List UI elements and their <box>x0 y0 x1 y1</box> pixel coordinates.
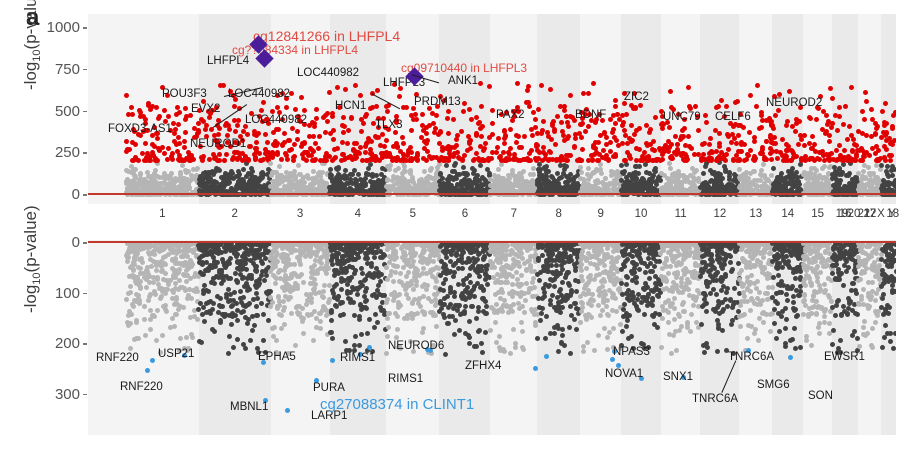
scatter-point <box>870 181 875 186</box>
scatter-point <box>176 135 181 140</box>
scatter-point <box>452 163 457 168</box>
scatter-point <box>810 146 815 151</box>
scatter-point <box>434 113 439 118</box>
scatter-point <box>152 289 157 294</box>
scatter-point <box>363 183 368 188</box>
scatter-point <box>124 139 129 144</box>
scatter-point <box>316 146 321 151</box>
scatter-point <box>177 141 182 146</box>
scatter-point <box>124 253 129 258</box>
scatter-point <box>820 166 825 171</box>
scatter-point <box>859 177 864 182</box>
scatter-point <box>635 182 640 187</box>
scatter-point <box>153 168 158 173</box>
scatter-point <box>155 136 160 141</box>
scatter-point <box>748 93 753 98</box>
scatter-point <box>729 188 734 193</box>
scatter-point <box>700 142 705 147</box>
scatter-point <box>408 186 413 191</box>
scatter-point <box>514 183 519 188</box>
scatter-point <box>602 130 607 135</box>
scatter-point <box>861 169 866 174</box>
scatter-point <box>862 117 867 122</box>
scatter-point <box>824 113 829 118</box>
scatter-point <box>168 278 173 283</box>
scatter-point <box>444 186 449 191</box>
scatter-point <box>580 147 585 152</box>
scatter-point <box>130 112 135 117</box>
scatter-point <box>201 154 206 159</box>
scatter-point <box>450 169 455 174</box>
scatter-point <box>400 135 405 140</box>
scatter-point <box>737 158 742 163</box>
scatter-point <box>651 139 656 144</box>
scatter-point <box>879 135 884 140</box>
scatter-point <box>579 170 584 175</box>
scatter-point <box>261 100 266 105</box>
scatter-point <box>311 169 316 174</box>
scatter-point <box>133 142 138 147</box>
scatter-point <box>508 127 513 132</box>
scatter-point <box>138 271 143 276</box>
scatter-point <box>809 166 814 171</box>
scatter-point <box>628 156 633 161</box>
scatter-point <box>467 107 472 112</box>
scatter-point <box>184 335 189 340</box>
scatter-point <box>162 151 167 156</box>
scatter-point <box>352 141 357 146</box>
scatter-point <box>620 123 625 128</box>
scatter-point <box>569 185 574 190</box>
significance-threshold-line-top <box>88 193 896 195</box>
scatter-point <box>134 336 139 341</box>
scatter-point <box>461 109 466 114</box>
scatter-point <box>177 158 182 163</box>
scatter-point <box>681 134 686 139</box>
scatter-point <box>175 261 180 266</box>
scatter-point <box>170 257 175 262</box>
scatter-point <box>387 167 392 172</box>
scatter-point <box>317 179 322 184</box>
scatter-point <box>445 116 450 121</box>
scatter-point <box>446 131 451 136</box>
scatter-point <box>755 83 760 88</box>
scatter-point <box>649 187 654 192</box>
scatter-point <box>154 338 159 343</box>
scatter-point <box>335 146 340 151</box>
scatter-point <box>215 158 220 163</box>
scatter-point <box>449 145 454 150</box>
scatter-point <box>324 158 329 163</box>
scatter-point <box>536 167 541 172</box>
scatter-point <box>844 173 849 178</box>
scatter-point <box>178 285 183 290</box>
scatter-point <box>182 145 187 150</box>
scatter-point <box>495 145 500 150</box>
scatter-point <box>525 156 530 161</box>
scatter-point <box>531 110 536 115</box>
scatter-point <box>864 99 869 104</box>
scatter-point <box>420 112 425 117</box>
scatter-point <box>863 90 868 95</box>
scatter-point <box>503 133 508 138</box>
scatter-point <box>769 173 774 178</box>
scatter-point <box>351 147 356 152</box>
scatter-point <box>807 157 812 162</box>
scatter-point <box>334 166 339 171</box>
scatter-point <box>754 104 759 109</box>
scatter-point <box>490 121 495 126</box>
scatter-point <box>345 141 350 146</box>
scatter-point <box>299 95 304 100</box>
scatter-point <box>478 163 483 168</box>
scatter-point <box>279 157 284 162</box>
scatter-point <box>779 171 784 176</box>
scatter-point <box>579 158 584 163</box>
scatter-point <box>548 150 553 155</box>
scatter-point <box>856 129 861 134</box>
scatter-point <box>768 146 773 151</box>
scatter-point <box>293 107 298 112</box>
scatter-point <box>181 305 186 310</box>
scatter-point <box>871 171 876 176</box>
scatter-point <box>660 157 665 162</box>
scatter-point <box>834 148 839 153</box>
scatter-point <box>531 166 536 171</box>
scatter-point <box>413 112 418 117</box>
scatter-point <box>173 127 178 132</box>
scatter-point <box>253 157 258 162</box>
scatter-point <box>234 184 239 189</box>
scatter-point <box>761 162 766 167</box>
scatter-point <box>277 164 282 169</box>
scatter-point <box>759 168 764 173</box>
scatter-point <box>524 100 529 105</box>
scatter-point <box>459 129 464 134</box>
scatter-point <box>482 146 487 151</box>
scatter-point <box>538 177 543 182</box>
scatter-point <box>586 91 591 96</box>
scatter-point <box>310 158 315 163</box>
scatter-point <box>401 141 406 146</box>
scatter-point <box>680 128 685 133</box>
scatter-point <box>559 120 564 125</box>
scatter-point <box>780 137 785 142</box>
scatter-point <box>161 277 166 282</box>
scatter-point <box>254 146 259 151</box>
scatter-point <box>190 335 195 340</box>
scatter-point <box>124 297 129 302</box>
scatter-point <box>134 320 139 325</box>
scatter-point <box>138 285 143 290</box>
scatter-point <box>596 140 601 145</box>
scatter-point <box>144 285 149 290</box>
scatter-point <box>837 143 842 148</box>
scatter-point <box>802 133 807 138</box>
scatter-point <box>130 302 135 307</box>
scatter-point <box>622 169 627 174</box>
scatter-point <box>811 181 816 186</box>
scatter-point <box>152 144 157 149</box>
scatter-point <box>667 145 672 150</box>
scatter-point <box>726 147 731 152</box>
scatter-point <box>171 183 176 188</box>
scatter-point <box>499 162 504 167</box>
scatter-point <box>613 104 618 109</box>
scatter-point <box>188 315 193 320</box>
scatter-point <box>752 139 757 144</box>
scatter-point <box>758 151 763 156</box>
scatter-point <box>428 184 433 189</box>
scatter-point <box>468 181 473 186</box>
scatter-point <box>163 271 168 276</box>
scatter-point <box>541 119 546 124</box>
scatter-point <box>881 130 886 135</box>
scatter-point <box>792 184 797 189</box>
scatter-point <box>527 104 532 109</box>
scatter-point <box>562 185 567 190</box>
scatter-point <box>207 157 212 162</box>
scatter-point <box>653 169 658 174</box>
scatter-point <box>497 181 502 186</box>
scatter-point <box>888 158 893 163</box>
scatter-point <box>837 181 842 186</box>
scatter-point <box>320 170 325 175</box>
scatter-point <box>304 158 309 163</box>
scatter-point <box>282 131 287 136</box>
scatter-point <box>271 152 276 157</box>
scatter-point <box>686 85 691 90</box>
scatter-point <box>814 117 819 122</box>
scatter-point <box>516 134 521 139</box>
scatter-point <box>290 126 295 131</box>
scatter-point <box>771 141 776 146</box>
scatter-point <box>335 85 340 90</box>
scatter-point <box>170 288 175 293</box>
scatter-point <box>812 142 817 147</box>
scatter-point <box>343 168 348 173</box>
scatter-point <box>882 123 887 128</box>
scatter-point <box>652 148 657 153</box>
scatter-point <box>787 89 792 94</box>
scatter-point <box>837 105 842 110</box>
scatter-point <box>299 144 304 149</box>
scatter-point <box>128 284 133 289</box>
scatter-point <box>803 157 808 162</box>
scatter-point <box>148 327 153 332</box>
scatter-point <box>157 249 162 254</box>
scatter-point <box>867 153 872 158</box>
scatter-point <box>292 142 297 147</box>
scatter-point <box>808 116 813 121</box>
scatter-point <box>129 105 134 110</box>
scatter-point <box>487 84 492 89</box>
scatter-point <box>172 324 177 329</box>
scatter-point <box>739 140 744 145</box>
scatter-point <box>489 156 494 161</box>
scatter-point <box>152 243 157 248</box>
scatter-point <box>590 157 595 162</box>
scatter-point <box>667 125 672 130</box>
scatter-point <box>397 94 402 99</box>
scatter-point <box>237 155 242 160</box>
scatter-point <box>820 149 825 154</box>
scatter-point <box>772 135 777 140</box>
scatter-point <box>310 120 315 125</box>
scatter-point <box>634 146 639 151</box>
scatter-point <box>880 109 885 114</box>
scatter-point <box>302 108 307 113</box>
scatter-point <box>693 104 698 109</box>
scatter-point <box>562 163 567 168</box>
scatter-point <box>144 158 149 163</box>
scatter-point <box>553 142 558 147</box>
scatter-point <box>282 140 287 145</box>
scatter-point <box>620 113 625 118</box>
scatter-point <box>546 180 551 185</box>
scatter-point <box>148 251 153 256</box>
scatter-point <box>238 289 243 294</box>
scatter-point <box>743 173 748 178</box>
scatter-point <box>158 296 163 301</box>
scatter-point <box>512 155 517 160</box>
scatter-point <box>885 172 890 177</box>
scatter-point <box>415 151 420 156</box>
scatter-point <box>753 156 758 161</box>
scatter-point <box>186 169 191 174</box>
scatter-point <box>275 152 280 157</box>
y-title-sub: 10 <box>31 272 43 284</box>
scatter-point <box>156 116 161 121</box>
scatter-point <box>259 108 264 113</box>
scatter-point <box>217 152 222 157</box>
scatter-point <box>307 134 312 139</box>
scatter-point <box>161 244 166 249</box>
scatter-point <box>183 106 188 111</box>
scatter-point <box>224 152 229 157</box>
scatter-point <box>198 183 203 188</box>
scatter-point <box>330 178 335 183</box>
scatter-point <box>660 126 665 131</box>
scatter-point <box>252 180 257 185</box>
scatter-point <box>182 139 187 144</box>
scatter-point <box>185 261 190 266</box>
scatter-point <box>303 185 308 190</box>
miami-plot-figure: a -log10(p-value) -log10(p-value) 100075… <box>0 0 900 449</box>
scatter-point <box>424 131 429 136</box>
scatter-point <box>759 113 764 118</box>
bottom-plot-area <box>88 240 896 435</box>
scatter-point <box>411 180 416 185</box>
scatter-point <box>859 146 864 151</box>
scatter-point <box>529 148 534 153</box>
scatter-point <box>137 108 142 113</box>
scatter-point <box>883 101 888 106</box>
scatter-point <box>177 278 182 283</box>
scatter-point <box>428 168 433 173</box>
scatter-point <box>731 124 736 129</box>
scatter-point <box>822 158 827 163</box>
scatter-point <box>622 158 627 163</box>
scatter-point <box>876 148 881 153</box>
scatter-point <box>447 151 452 156</box>
scatter-point <box>182 253 187 258</box>
scatter-point <box>148 317 153 322</box>
scatter-point <box>875 158 880 163</box>
scatter-point <box>178 336 183 341</box>
scatter-point <box>536 107 541 112</box>
scatter-point <box>497 155 502 160</box>
scatter-point <box>409 128 414 133</box>
scatter-point <box>691 187 696 192</box>
scatter-point <box>406 150 411 155</box>
scatter-point <box>382 144 387 149</box>
scatter-point <box>314 107 319 112</box>
scatter-point <box>385 109 390 114</box>
scatter-point <box>835 128 840 133</box>
scatter-point <box>802 143 807 148</box>
scatter-point <box>346 181 351 186</box>
scatter-point <box>562 104 567 109</box>
scatter-point <box>166 114 171 119</box>
scatter-point <box>591 81 596 86</box>
scatter-point <box>302 140 307 145</box>
scatter-point <box>163 303 168 308</box>
scatter-point <box>393 168 398 173</box>
scatter-point <box>529 127 534 132</box>
scatter-point <box>417 180 422 185</box>
scatter-point <box>764 157 769 162</box>
scatter-point <box>849 133 854 138</box>
scatter-point <box>217 126 222 131</box>
scatter-point <box>766 178 771 183</box>
scatter-point <box>687 104 692 109</box>
scatter-point <box>445 177 450 182</box>
scatter-point <box>409 113 414 118</box>
scatter-point <box>496 136 501 141</box>
scatter-point <box>864 182 869 187</box>
scatter-point <box>586 177 591 182</box>
scatter-point <box>723 158 728 163</box>
scatter-point <box>595 178 600 183</box>
scatter-point <box>189 296 194 301</box>
scatter-point <box>180 163 185 168</box>
scatter-point <box>166 282 171 287</box>
scatter-point <box>453 175 458 180</box>
scatter-point <box>646 158 651 163</box>
scatter-point <box>142 317 147 322</box>
scatter-point <box>504 156 509 161</box>
scatter-point <box>741 125 746 130</box>
scatter-point <box>183 130 188 135</box>
scatter-point <box>566 124 571 129</box>
scatter-point <box>747 130 752 135</box>
scatter-point <box>662 149 667 154</box>
scatter-point <box>127 246 132 251</box>
scatter-point <box>125 178 130 183</box>
scatter-point <box>555 171 560 176</box>
scatter-point <box>604 142 609 147</box>
scatter-point <box>310 148 315 153</box>
scatter-point <box>136 296 141 301</box>
scatter-point <box>424 141 429 146</box>
scatter-point <box>620 141 625 146</box>
scatter-point <box>146 103 151 108</box>
scatter-point <box>607 182 612 187</box>
scatter-point <box>317 134 322 139</box>
scatter-point <box>160 175 165 180</box>
scatter-point <box>148 308 153 313</box>
